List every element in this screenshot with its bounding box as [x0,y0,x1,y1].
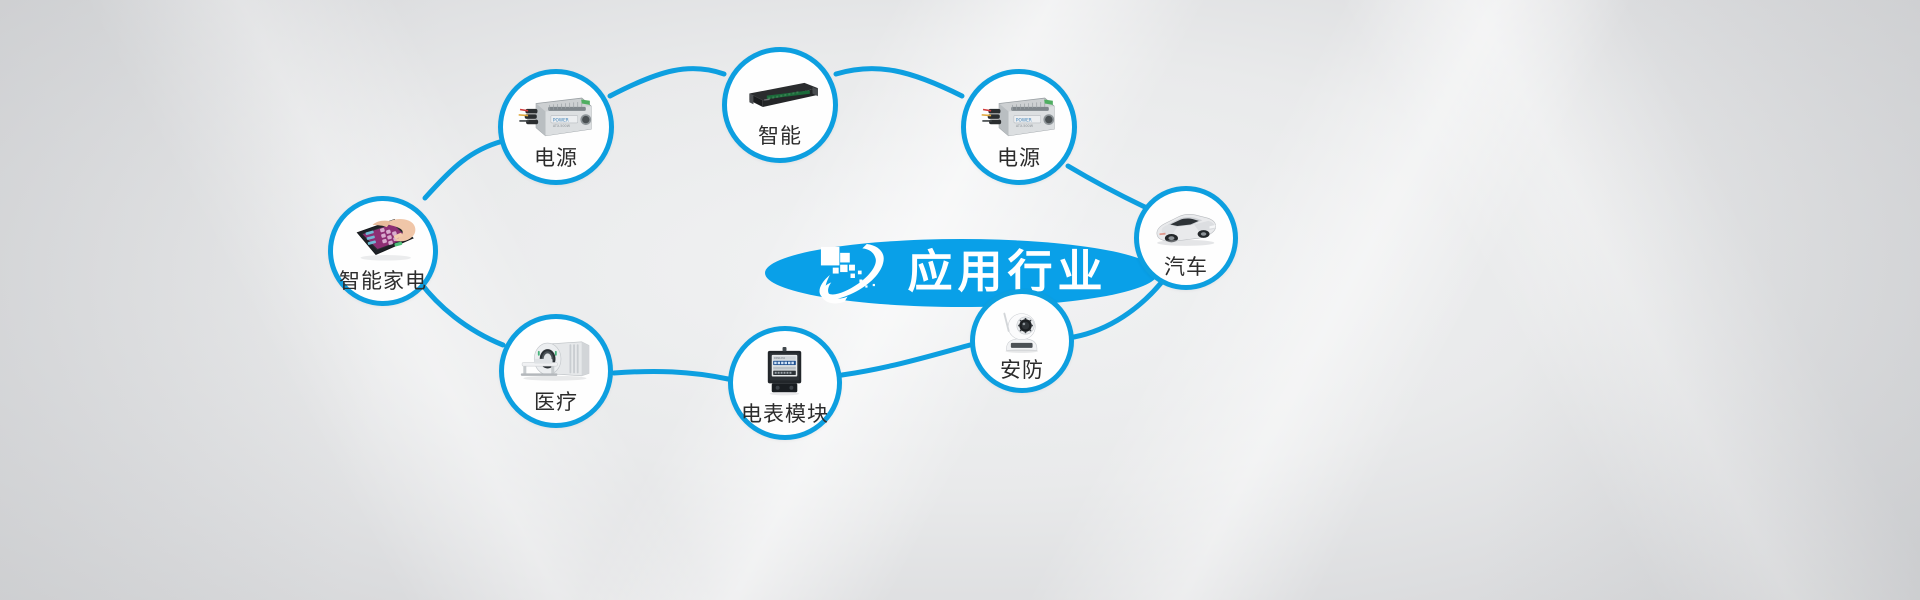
application-industries-diagram: 应用行业 电源智能电源汽车安防电表模块医疗智能家电 [0,0,1920,600]
link-powerleft-smart [610,69,724,96]
mri-scanner-icon [516,333,595,387]
electric-meter-icon [745,345,824,399]
orbit-pixel-logo-icon [815,241,889,305]
center-badge: 应用行业 [765,239,1158,307]
node-label: 智能家电 [339,270,427,293]
node-meter-module[interactable]: 电表模块 [728,326,842,440]
power-supply-icon [516,88,597,143]
node-smart[interactable]: 智能 [722,47,838,163]
link-powerright-automotive [1068,166,1147,208]
node-label: 智能 [758,125,802,148]
sports-car-icon [1150,203,1221,252]
node-power-left[interactable]: 电源 [498,69,614,185]
node-power-right[interactable]: 电源 [961,69,1077,185]
rack-server-icon [740,66,821,121]
tablet-touch-icon [345,214,421,266]
node-smart-home[interactable]: 智能家电 [328,196,438,306]
node-label: 汽车 [1164,256,1208,279]
node-label: 电源 [997,147,1041,170]
node-security[interactable]: 安防 [970,289,1074,393]
node-label: 电源 [534,147,578,170]
node-label: 电表模块 [741,403,829,426]
link-smart-powerright [836,69,962,96]
node-label: 安防 [1000,359,1044,382]
node-automotive[interactable]: 汽车 [1134,186,1238,290]
node-label: 医疗 [534,391,578,414]
node-medical[interactable]: 医疗 [499,314,613,428]
link-security-meter [842,345,970,375]
link-meter-medical [614,371,728,379]
link-smarthome-powerleft [425,141,503,198]
ip-camera-icon [986,306,1057,355]
link-medical-smarthome [420,282,503,345]
power-supply-icon [979,88,1060,143]
